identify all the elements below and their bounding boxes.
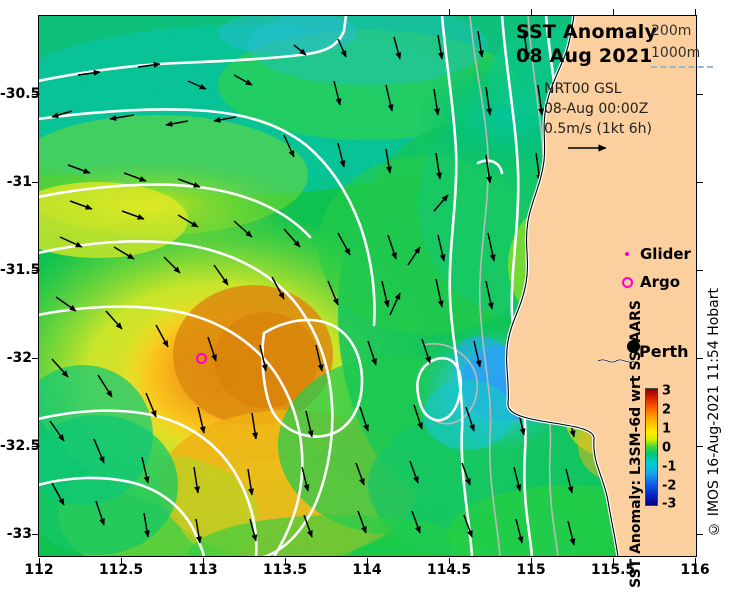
title-line-1: SST Anomaly [516,20,657,44]
colorbar-group: 3 2 1 0 -1 -2 -3 [645,388,658,506]
glider-marker-icon [614,252,640,256]
colorbar-tick-label: 3 [662,384,671,399]
sst-anomaly-map-figure: 112 112.5 113 113.5 114 114.5 115 115.5 … [0,0,740,592]
y-tick-label: -30.5 [0,86,32,102]
y-tick-label: -31 [0,174,32,190]
product-info-block: NRT00 GSL 08-Aug 00:00Z 0.5m/s (1kt 6h) [544,79,652,160]
y-tick-label: -31.5 [0,262,32,278]
vector-scale-label: 0.5m/s (1kt 6h) [544,119,652,139]
x-tick-label: 112 [24,562,53,578]
colorbar-tick-label: -1 [662,460,676,475]
x-tick-label: 112.5 [99,562,143,578]
marker-legend: Glider Argo [614,240,691,296]
legend-item-argo[interactable]: Argo [614,268,691,296]
y-tick-label: -33 [0,526,32,542]
bathymetry-depth-legend: 200m 1000m [651,20,713,68]
colorbar-tick-label: 0 [662,441,671,456]
x-tick-label: 113.5 [263,562,307,578]
legend-item-glider[interactable]: Glider [614,240,691,268]
title-line-2: 08 Aug 2021 [516,44,657,68]
map-title: SST Anomaly 08 Aug 2021 [516,20,657,68]
x-tick-label: 114 [352,562,381,578]
vector-scale-arrow-icon [566,142,612,154]
legend-label-glider: Glider [640,245,691,263]
colorbar-gradient [645,388,658,506]
y-tick-label: -32 [0,350,32,366]
argo-marker-icon [614,277,640,288]
product-name: NRT00 GSL [544,79,652,99]
product-timestamp: 08-Aug 00:00Z [544,99,652,119]
colorbar-title: SST Anomaly: L3SM-6d wrt SSTAARS [628,300,644,588]
depth-label-1000m: 1000m [651,42,713,64]
depth-label-200m: 200m [651,20,713,42]
y-tick-label: -32.5 [0,438,32,454]
legend-label-argo: Argo [640,273,680,291]
argo-marker-ocean[interactable] [196,353,207,364]
x-tick-label: 113 [188,562,217,578]
colorbar-tick-label: 2 [662,403,671,418]
colorbar-tick-label: -2 [662,479,676,494]
colorbar-tick-label: 1 [662,422,671,437]
x-tick-label: 115 [516,562,545,578]
depth-dash-line [651,66,713,68]
colorbar-tick-label: -3 [662,497,676,512]
copyright-notice: © IMOS 16-Aug-2021 11:54 Hobart [706,288,722,537]
perth-city-label: Perth [639,342,689,361]
x-tick-label: 116 [680,562,709,578]
x-tick-label: 114.5 [427,562,471,578]
